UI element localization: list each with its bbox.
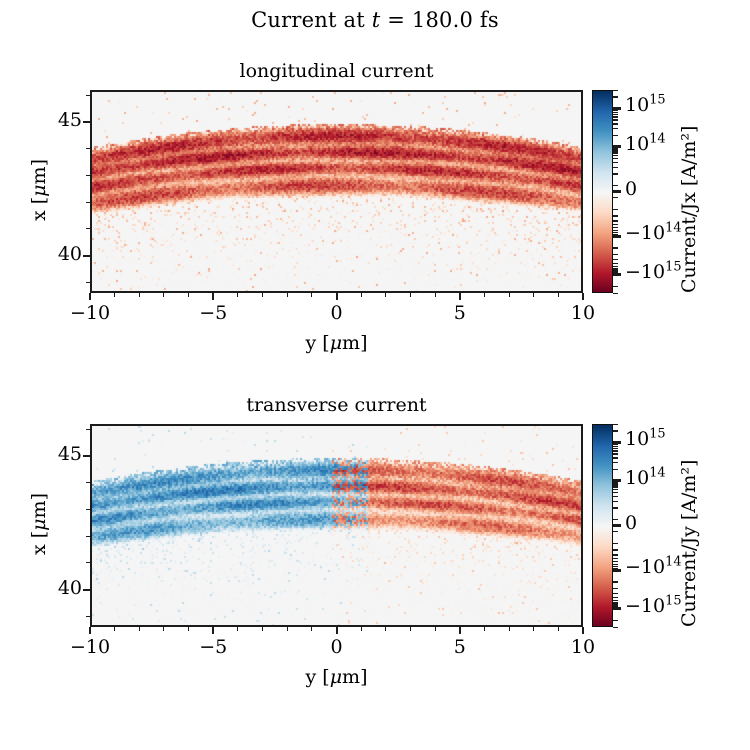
cbtick-minor-1-3 [613, 215, 618, 216]
xtick-major-p2-4 [582, 627, 584, 634]
yaxis-label-panel2: x [μm] [28, 484, 50, 564]
cbtick-minor-1-50 [613, 96, 618, 97]
colorbar-gradient-jy [593, 425, 613, 627]
plot-area-transverse-current[interactable] [90, 424, 583, 627]
xticklabel-p2-0: −10 [50, 636, 130, 658]
cbtick-minor-1-53 [613, 293, 618, 294]
xtick-minor-p2-8 [533, 627, 534, 631]
cbtick-minor-2-10 [613, 486, 618, 487]
xticklabel-p1-3: 5 [420, 302, 500, 324]
cbtick-minor-2-16 [613, 469, 618, 470]
colorbar-ticklabel-2-4: −1015 [625, 595, 682, 617]
ytick-minor-p2-44 [86, 482, 90, 483]
xtick-minor-p1--3 [262, 293, 263, 297]
figure-canvas: Current at t = 180.0 fs longitudinal cur… [0, 0, 750, 750]
cbtick-minor-1-1 [613, 209, 618, 210]
cbtick-minor-2-22 [613, 453, 618, 454]
xtick-major-p2-0 [89, 627, 91, 634]
cbtick-minor-2-0 [613, 507, 618, 508]
cbtick-minor-1-28 [613, 112, 618, 113]
xticklabel-p1-2: 0 [297, 302, 377, 324]
panel-title-transverse: transverse current [90, 394, 583, 416]
xtick-minor-p1--4 [237, 293, 238, 297]
ytick-major-p2-0 [83, 455, 90, 457]
xtick-major-p1-1 [212, 293, 214, 300]
xticklabel-p1-1: −5 [173, 302, 253, 324]
ytick-minor-p1-46 [86, 95, 90, 96]
cbtick-minor-1-18 [613, 128, 618, 129]
cbtick-minor-1-9 [613, 227, 618, 228]
ytick-major-p2-1 [83, 589, 90, 591]
figure-suptitle: Current at t = 180.0 fs [0, 8, 750, 32]
cbtick-minor-1-48 [613, 185, 618, 186]
xtick-minor-p1--1 [311, 293, 312, 297]
xtick-minor-p1-2 [385, 293, 386, 297]
xtick-minor-p2-9 [558, 627, 559, 631]
plot-area-longitudinal-current[interactable] [90, 90, 583, 293]
xtick-major-p2-2 [336, 627, 338, 634]
colorbar-ticklabel-2-2: 0 [625, 512, 637, 534]
ytick-minor-p2-46 [86, 429, 90, 430]
xticklabel-p2-4: 10 [543, 636, 623, 658]
cbtick-major-2-2 [613, 524, 621, 527]
xticklabel-p2-2: 0 [297, 636, 377, 658]
cbtick-minor-1-0 [613, 173, 618, 174]
xtick-minor-p1-3 [410, 293, 411, 297]
cbtick-minor-1-4 [613, 162, 618, 163]
xtick-minor-p2-6 [484, 627, 485, 631]
cbtick-minor-1-22 [613, 119, 618, 120]
cbtick-minor-2-23 [613, 597, 618, 598]
xtick-major-p2-1 [212, 627, 214, 634]
cbtick-minor-1-15 [613, 234, 618, 235]
cbtick-minor-2-1 [613, 543, 618, 544]
colorbar-ticklabel-1-2: 0 [625, 178, 637, 200]
xtick-minor-p2--9 [114, 627, 115, 631]
xaxis-label-panel1: y [μm] [90, 332, 583, 354]
cbtick-minor-1-11 [613, 230, 618, 231]
cbtick-minor-1-30 [613, 110, 618, 111]
ytick-minor-p2-42 [86, 536, 90, 537]
colorbar-ticklabel-2-3: −1014 [625, 556, 682, 578]
xtick-major-p1-4 [582, 293, 584, 300]
yticklabel-p2-0: 45 [44, 443, 82, 465]
cbtick-minor-1-20 [613, 123, 618, 124]
cbtick-minor-2-8 [613, 489, 618, 490]
cbtick-minor-2-50 [613, 430, 618, 431]
xticklabel-p1-0: −10 [50, 302, 130, 324]
colorbar-jy[interactable] [592, 424, 613, 627]
xtick-minor-p1--2 [287, 293, 288, 297]
cbtick-minor-2-3 [613, 549, 618, 550]
cbtick-minor-2-9 [613, 561, 618, 562]
ytick-minor-p1-44 [86, 148, 90, 149]
xtick-minor-p2--7 [163, 627, 164, 631]
cbtick-minor-2-12 [613, 484, 618, 485]
cbtick-minor-1-14 [613, 148, 618, 149]
cbtick-minor-1-6 [613, 158, 618, 159]
cbtick-minor-1-12 [613, 150, 618, 151]
cbtick-minor-1-51 [613, 90, 618, 91]
cbtick-minor-2-14 [613, 482, 618, 483]
cbtick-minor-2-17 [613, 581, 618, 582]
cbtick-minor-2-6 [613, 492, 618, 493]
cbtick-minor-1-2 [613, 167, 618, 168]
xtick-minor-p1-6 [484, 293, 485, 297]
ytick-minor-p1-39 [86, 282, 90, 283]
colorbar-ticklabel-1-4: −1015 [625, 261, 682, 283]
cbtick-minor-2-19 [613, 588, 618, 589]
yticklabel-p2-1: 40 [44, 577, 82, 599]
xtick-major-p1-0 [89, 293, 91, 300]
cbtick-minor-1-31 [613, 272, 618, 273]
cbtick-minor-2-24 [613, 450, 618, 451]
xtick-minor-p1--8 [139, 293, 140, 297]
xtick-minor-p2--6 [188, 627, 189, 631]
cbtick-minor-1-27 [613, 268, 618, 269]
heatmap-longitudinal [92, 92, 583, 293]
suptitle-equation: = 180.0 fs [380, 8, 499, 32]
xtick-minor-p1-8 [533, 293, 534, 297]
xtick-minor-p2-1 [361, 627, 362, 631]
cbtick-minor-2-18 [613, 462, 618, 463]
yticklabel-p1-1: 40 [44, 243, 82, 265]
cbtick-minor-2-11 [613, 564, 618, 565]
cbtick-minor-2-20 [613, 457, 618, 458]
colorbar-jx[interactable] [592, 90, 613, 293]
xtick-minor-p2--1 [311, 627, 312, 631]
cbtick-minor-2-52 [613, 620, 618, 621]
xtick-minor-p2--3 [262, 627, 263, 631]
cbtick-minor-1-5 [613, 220, 618, 221]
cbtick-minor-1-7 [613, 224, 618, 225]
cbtick-minor-2-30 [613, 444, 618, 445]
cbtick-minor-1-10 [613, 152, 618, 153]
ytick-minor-p2-39 [86, 616, 90, 617]
cbtick-minor-1-24 [613, 116, 618, 117]
xaxis-label-panel2: y [μm] [90, 666, 583, 688]
ytick-minor-p1-43 [86, 175, 90, 176]
xtick-minor-p2--2 [287, 627, 288, 631]
cbtick-minor-2-48 [613, 519, 618, 520]
cbtick-minor-2-53 [613, 627, 618, 628]
xtick-minor-p2-4 [435, 627, 436, 631]
xtick-minor-p2--4 [237, 627, 238, 631]
xtick-major-p2-3 [459, 627, 461, 634]
cbtick-minor-2-51 [613, 424, 618, 425]
cbtick-minor-2-28 [613, 446, 618, 447]
cbtick-minor-2-25 [613, 600, 618, 601]
cbtick-minor-2-4 [613, 496, 618, 497]
cbtick-minor-2-31 [613, 606, 618, 607]
cbtick-minor-1-25 [613, 266, 618, 267]
ytick-minor-p2-41 [86, 562, 90, 563]
cbtick-minor-2-2 [613, 501, 618, 502]
colorbar-gradient-jx [593, 91, 613, 293]
yaxis-label-panel1: x [μm] [28, 150, 50, 230]
xtick-minor-p1-9 [558, 293, 559, 297]
cbtick-minor-1-52 [613, 286, 618, 287]
colorbar-ticklabel-2-1: 1014 [625, 467, 666, 489]
ytick-minor-p2-43 [86, 509, 90, 510]
cbtick-minor-1-17 [613, 247, 618, 248]
ytick-minor-p1-41 [86, 228, 90, 229]
colorbar-ticklabel-1-0: 1015 [625, 94, 666, 116]
cbtick-minor-2-5 [613, 554, 618, 555]
cbtick-minor-1-21 [613, 259, 618, 260]
xtick-minor-p1-4 [435, 293, 436, 297]
cbtick-minor-1-26 [613, 114, 618, 115]
colorbar-ticklabel-1-1: 1014 [625, 133, 666, 155]
xtick-major-p1-3 [459, 293, 461, 300]
heatmap-transverse [92, 426, 583, 627]
ytick-major-p1-0 [83, 121, 90, 123]
colorbar-ticklabel-1-3: −1014 [625, 222, 682, 244]
panel-title-longitudinal: longitudinal current [90, 60, 583, 82]
xtick-minor-p2--8 [139, 627, 140, 631]
cbtick-minor-1-16 [613, 135, 618, 136]
cbtick-minor-1-8 [613, 155, 618, 156]
ytick-major-p1-1 [83, 255, 90, 257]
cbtick-minor-2-27 [613, 602, 618, 603]
xtick-minor-p2-2 [385, 627, 386, 631]
cbtick-minor-1-23 [613, 263, 618, 264]
ytick-minor-p1-42 [86, 202, 90, 203]
cbtick-minor-2-15 [613, 568, 618, 569]
xtick-minor-p1--7 [163, 293, 164, 297]
cbtick-major-1-2 [613, 190, 621, 193]
xtick-minor-p2-7 [509, 627, 510, 631]
yticklabel-p1-0: 45 [44, 109, 82, 131]
xtick-major-p1-2 [336, 293, 338, 300]
colorbar-ticklabel-2-0: 1015 [625, 428, 666, 450]
xticklabel-p1-4: 10 [543, 302, 623, 324]
cbtick-minor-2-21 [613, 593, 618, 594]
cbtick-minor-2-7 [613, 558, 618, 559]
xticklabel-p2-1: −5 [173, 636, 253, 658]
suptitle-prefix: Current at [251, 8, 372, 32]
cbtick-minor-1-49 [613, 197, 618, 198]
xtick-minor-p2-3 [410, 627, 411, 631]
cbtick-minor-2-26 [613, 448, 618, 449]
xtick-minor-p1--9 [114, 293, 115, 297]
cbtick-minor-2-49 [613, 531, 618, 532]
xticklabel-p2-3: 5 [420, 636, 500, 658]
xtick-minor-p1--6 [188, 293, 189, 297]
xtick-minor-p1-7 [509, 293, 510, 297]
xtick-minor-p1-1 [361, 293, 362, 297]
cbtick-minor-1-19 [613, 254, 618, 255]
